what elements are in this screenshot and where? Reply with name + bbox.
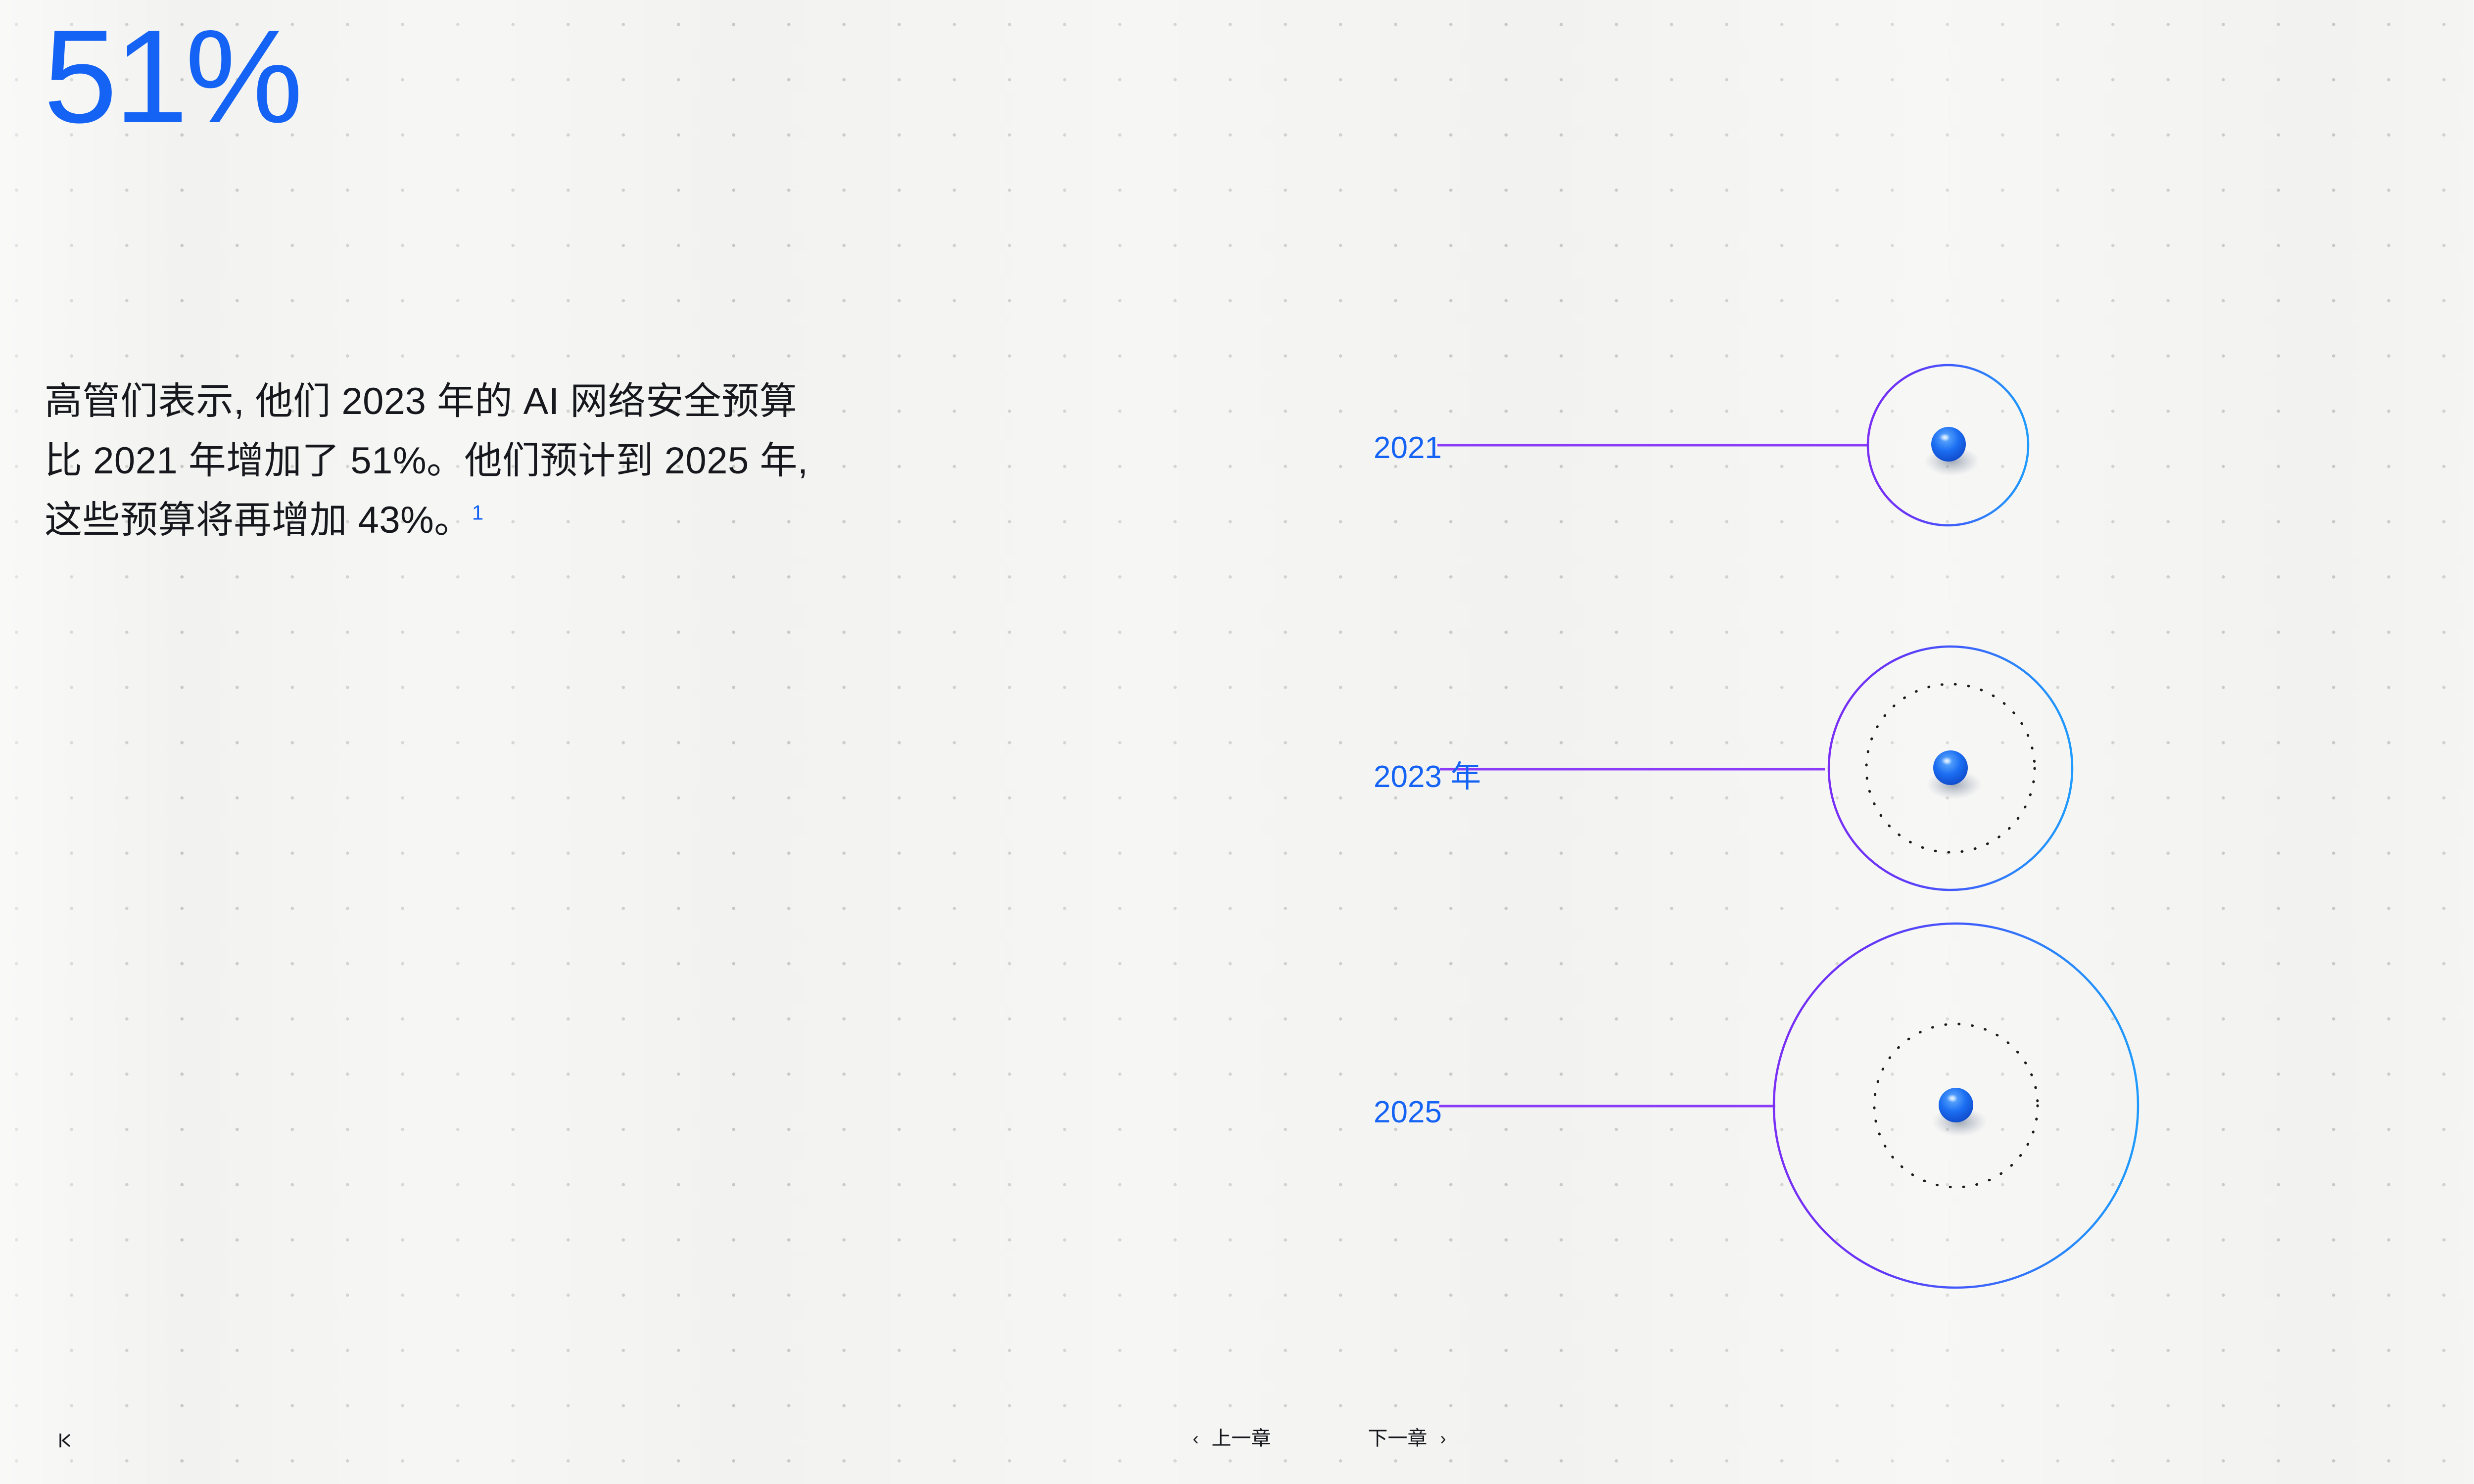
chapter-nav: ‹ 上一章 下一章 › bbox=[1193, 1429, 1446, 1448]
sphere-highlight-2025 bbox=[1947, 1094, 1957, 1102]
skip-to-first-icon[interactable] bbox=[54, 1430, 76, 1455]
chevron-right-icon: › bbox=[1440, 1430, 1446, 1447]
bubble-label-2021: 2021 bbox=[1374, 433, 1442, 464]
body-paragraph: 高管们表示, 他们 2023 年的 AI 网络安全预算比 2021 年增加了 5… bbox=[45, 372, 826, 550]
stat-headline: 51% bbox=[44, 10, 300, 142]
prev-chapter-button[interactable]: ‹ 上一章 bbox=[1193, 1429, 1271, 1448]
bubble-group-2021 bbox=[1437, 365, 2028, 525]
bubble-label-2023: 2023 年 bbox=[1374, 762, 1481, 792]
bottom-navigation-bar: ‹ 上一章 下一章 › 8 bbox=[0, 1410, 2474, 1484]
next-chapter-button[interactable]: 下一章 › bbox=[1368, 1429, 1446, 1448]
next-chapter-label: 下一章 bbox=[1368, 1429, 1427, 1448]
sphere-2025 bbox=[1939, 1088, 1973, 1122]
bubble-label-2025: 2025 bbox=[1374, 1097, 1442, 1128]
sphere-2023 bbox=[1933, 750, 1968, 785]
prev-chapter-label: 上一章 bbox=[1212, 1429, 1271, 1448]
sphere-2021 bbox=[1931, 427, 1966, 462]
left-content-column: 51% 高管们表示, 他们 2023 年的 AI 网络安全预算比 2021 年增… bbox=[44, 0, 845, 1484]
sphere-highlight-2023 bbox=[1941, 757, 1952, 765]
body-paragraph-text: 高管们表示, 他们 2023 年的 AI 网络安全预算比 2021 年增加了 5… bbox=[45, 380, 808, 541]
chevron-left-icon: ‹ bbox=[1193, 1430, 1199, 1447]
sphere-highlight-2021 bbox=[1939, 433, 1950, 441]
footnote-reference[interactable]: 1 bbox=[472, 501, 484, 524]
bubble-group-2025 bbox=[1439, 924, 2138, 1288]
budget-growth-bubble-diagram: 2021 2023 年 2025 bbox=[1356, 307, 2197, 1326]
bubble-group-2023 bbox=[1440, 647, 2072, 890]
